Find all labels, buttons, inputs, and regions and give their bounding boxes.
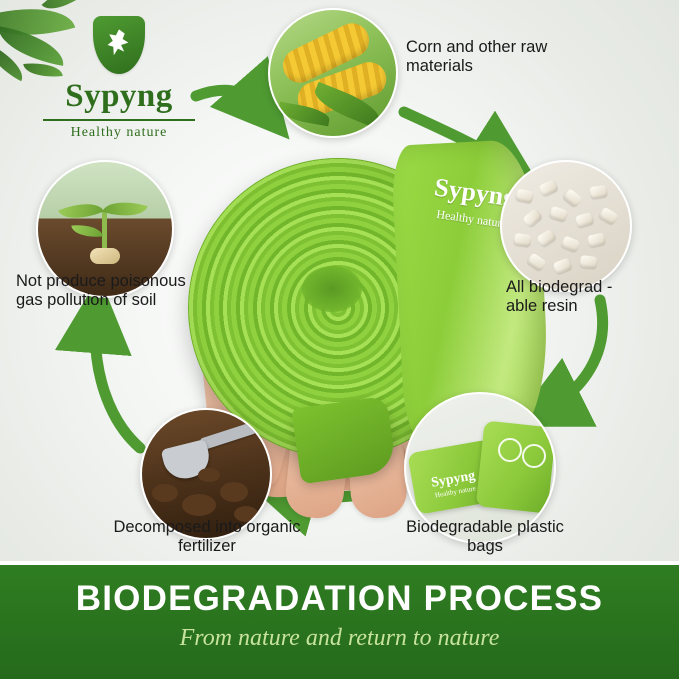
- bottom-banner: BIODEGRADATION PROCESS From nature and r…: [0, 561, 679, 679]
- banner-title: BIODEGRADATION PROCESS: [0, 579, 679, 619]
- callout-label-resin: All biodegrad -able resin: [506, 278, 626, 317]
- callout-label-nogas: Not produce poisonous gas pollution of s…: [16, 272, 196, 311]
- callout-image-resin: [500, 160, 632, 292]
- arrow-logo-to-corn: [196, 90, 262, 108]
- callout-label-corn: Corn and other raw materials: [406, 38, 566, 77]
- callout-label-compost: Decomposed into organic fertilizer: [112, 518, 302, 557]
- arrow-compost-to-seedling: [95, 318, 140, 448]
- callout-image-corn: [268, 8, 398, 138]
- banner-subtitle: From nature and return to nature: [0, 625, 679, 652]
- product-infographic: Sypyng Healthy nature Sypyng Healthy: [0, 0, 679, 679]
- callout-label-bags: Biodegradable plastic bags: [400, 518, 570, 557]
